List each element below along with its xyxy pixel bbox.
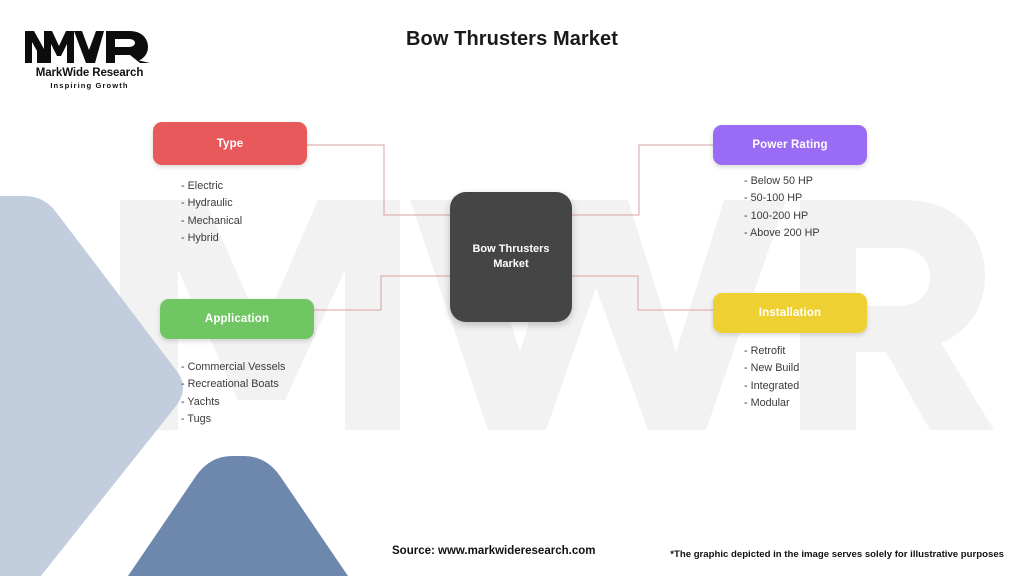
list-item: - Electric [181, 178, 242, 195]
branch-label-installation: Installation [759, 307, 822, 319]
list-item: - Hybrid [181, 230, 242, 247]
decorative-triangle-dark [128, 456, 348, 576]
connector-type [307, 145, 452, 215]
connector-power-rating [571, 145, 713, 215]
list-item: - Retrofit [744, 343, 799, 360]
list-item: - Tugs [181, 411, 285, 428]
branch-items-type: - Electric - Hydraulic - Mechanical - Hy… [181, 178, 242, 248]
branch-label-type: Type [217, 138, 244, 150]
list-item: - 50-100 HP [744, 190, 820, 207]
logo-tagline: Inspiring Growth [22, 81, 157, 90]
branch-box-application[interactable]: Application [160, 299, 314, 339]
center-node[interactable]: Bow Thrusters Market [450, 192, 572, 322]
center-node-line1: Bow Thrusters [472, 243, 549, 255]
list-item: - 100-200 HP [744, 208, 820, 225]
branch-items-application: - Commercial Vessels - Recreational Boat… [181, 359, 285, 429]
infographic-canvas: MarkWide Research Inspiring Growth Bow T… [0, 0, 1024, 576]
page-title: Bow Thrusters Market [0, 28, 1024, 51]
list-item: - Hydraulic [181, 195, 242, 212]
branch-box-installation[interactable]: Installation [713, 293, 867, 333]
branch-box-power-rating[interactable]: Power Rating [713, 125, 867, 165]
list-item: - New Build [744, 360, 799, 377]
branch-label-power-rating: Power Rating [752, 139, 827, 151]
list-item: - Below 50 HP [744, 173, 820, 190]
disclaimer-text: *The graphic depicted in the image serve… [670, 549, 1004, 560]
list-item: - Mechanical [181, 213, 242, 230]
list-item: - Integrated [744, 378, 799, 395]
connector-installation [571, 276, 713, 310]
list-item: - Above 200 HP [744, 225, 820, 242]
branch-box-type[interactable]: Type [153, 122, 307, 165]
center-node-label: Bow Thrusters Market [472, 242, 549, 272]
branch-label-application: Application [205, 313, 269, 325]
list-item: - Commercial Vessels [181, 359, 285, 376]
branch-items-installation: - Retrofit - New Build - Integrated - Mo… [744, 343, 799, 413]
list-item: - Modular [744, 395, 799, 412]
logo-company-name: MarkWide Research [22, 67, 157, 79]
decorative-chevron-light [0, 196, 183, 576]
list-item: - Yachts [181, 394, 285, 411]
branch-items-power-rating: - Below 50 HP - 50-100 HP - 100-200 HP -… [744, 173, 820, 243]
center-node-line2: Market [493, 258, 528, 270]
source-text: Source: www.markwideresearch.com [392, 545, 595, 557]
list-item: - Recreational Boats [181, 376, 285, 393]
connector-application [314, 276, 452, 310]
